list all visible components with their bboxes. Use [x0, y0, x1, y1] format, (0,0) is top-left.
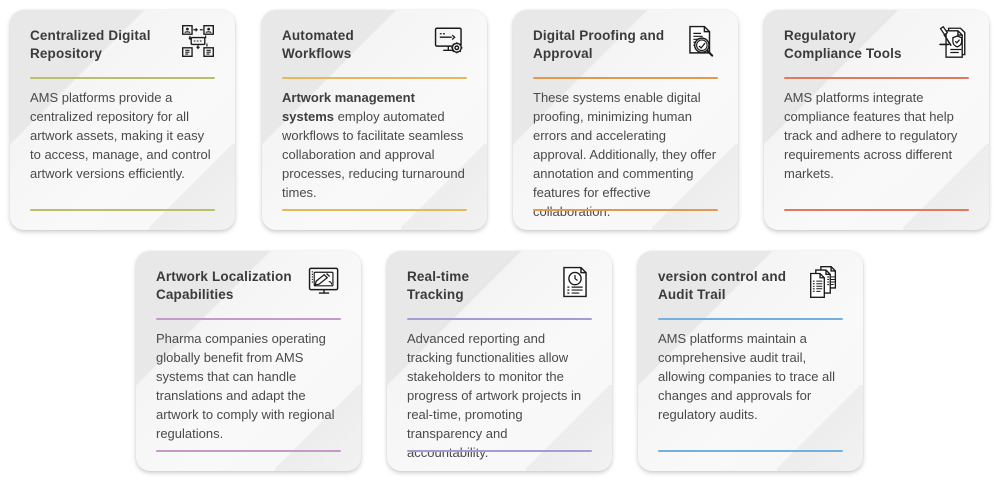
card-title: Digital Proofing and Approval — [533, 26, 664, 63]
document-magnifier-icon — [684, 24, 718, 58]
card-accent-divider — [407, 318, 592, 320]
stacked-documents-icon — [809, 265, 843, 299]
card-bottom-accent — [30, 209, 215, 211]
card-body-text: AMS platforms maintain a comprehensive a… — [658, 330, 843, 425]
card-accent-divider — [784, 77, 969, 79]
card-title: Artwork Localization Capabilities — [156, 267, 292, 304]
card-accent-divider — [156, 318, 341, 320]
card-bottom-accent — [658, 450, 843, 452]
monitor-stylus-icon — [307, 265, 341, 299]
feature-card-centralized-digital-repository[interactable]: Centralized Digital Repository AMS platf… — [10, 10, 235, 230]
feature-card-automated-workflows[interactable]: Automated Workflows Artwork management s… — [262, 10, 487, 230]
card-content: Automated Workflows Artwork management s… — [262, 10, 487, 230]
card-accent-divider — [658, 318, 843, 320]
card-title: Automated Workflows — [282, 26, 354, 63]
feature-card-version-control-and-audit-trail[interactable]: version control and Audit Trail AMS plat… — [638, 251, 863, 471]
card-title: Regulatory Compliance Tools — [784, 26, 902, 63]
card-content: Real-time Tracking Advanced reporting an… — [387, 251, 612, 471]
card-content: Artwork Localization Capabilities Pharma… — [136, 251, 361, 471]
feature-card-digital-proofing-and-approval[interactable]: Digital Proofing and Approval These syst… — [513, 10, 738, 230]
card-bottom-accent — [407, 450, 592, 452]
card-content: Digital Proofing and Approval These syst… — [513, 10, 738, 230]
card-header: Real-time Tracking — [407, 267, 592, 309]
card-accent-divider — [282, 77, 467, 79]
card-bottom-accent — [282, 209, 467, 211]
card-header: version control and Audit Trail — [658, 267, 843, 309]
card-header: Artwork Localization Capabilities — [156, 267, 341, 309]
card-body-text: Pharma companies operating globally bene… — [156, 330, 341, 444]
card-header: Digital Proofing and Approval — [533, 26, 718, 68]
document-clock-icon — [558, 265, 592, 299]
card-body-text: These systems enable digital proofing, m… — [533, 89, 718, 222]
network-repository-icon — [181, 24, 215, 58]
feature-card-regulatory-compliance-tools[interactable]: Regulatory Compliance Tools AMS platform… — [764, 10, 989, 230]
card-body-text: Artwork management systems employ automa… — [282, 89, 467, 203]
card-accent-divider — [30, 77, 215, 79]
monitor-gear-icon — [433, 24, 467, 58]
gavel-shield-document-icon — [935, 24, 969, 58]
card-content: version control and Audit Trail AMS plat… — [638, 251, 863, 471]
feature-card-artwork-localization-capabilities[interactable]: Artwork Localization Capabilities Pharma… — [136, 251, 361, 471]
card-body-text: AMS platforms integrate compliance featu… — [784, 89, 969, 184]
card-content: Centralized Digital Repository AMS platf… — [10, 10, 235, 230]
card-bottom-accent — [784, 209, 969, 211]
card-header: Regulatory Compliance Tools — [784, 26, 969, 68]
card-title: Real-time Tracking — [407, 267, 469, 304]
card-title: version control and Audit Trail — [658, 267, 786, 304]
card-header: Automated Workflows — [282, 26, 467, 68]
infographic-board: Centralized Digital Repository AMS platf… — [0, 0, 1000, 481]
card-content: Regulatory Compliance Tools AMS platform… — [764, 10, 989, 230]
feature-card-real-time-tracking[interactable]: Real-time Tracking Advanced reporting an… — [387, 251, 612, 471]
card-body-text: Advanced reporting and tracking function… — [407, 330, 592, 463]
card-body-text: AMS platforms provide a centralized repo… — [30, 89, 215, 184]
card-title: Centralized Digital Repository — [30, 26, 151, 63]
card-header: Centralized Digital Repository — [30, 26, 215, 68]
card-bottom-accent — [533, 209, 718, 211]
card-bottom-accent — [156, 450, 341, 452]
card-accent-divider — [533, 77, 718, 79]
